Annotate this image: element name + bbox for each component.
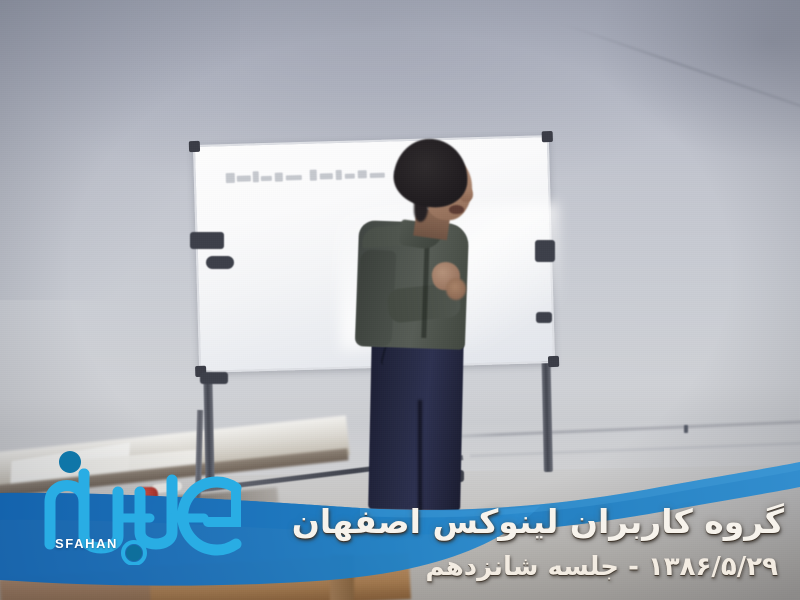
- presenter: [0, 0, 800, 600]
- photograph: SFAHAN گروه کاربران لینوکس اصفهان ۱۳۸۶/۵…: [0, 0, 800, 600]
- presenter-hand: [446, 278, 466, 300]
- presenter-hair: [391, 136, 471, 210]
- presenter-trouser-seam: [418, 400, 422, 512]
- presenter-mouth: [449, 205, 464, 214]
